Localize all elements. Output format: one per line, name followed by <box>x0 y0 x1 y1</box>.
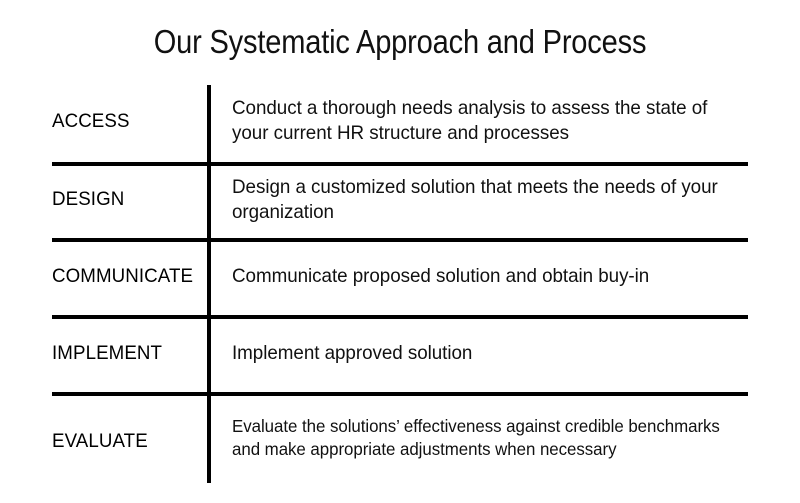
page-title: Our Systematic Approach and Process <box>48 20 752 64</box>
table-row: IMPLEMENT Implement approved solution <box>52 315 748 392</box>
table-row: DESIGN Design a customized solution that… <box>52 162 748 238</box>
stage-description-access: Conduct a thorough needs analysis to ass… <box>232 96 726 146</box>
stage-label-evaluate: EVALUATE <box>52 429 196 453</box>
stage-description-evaluate: Evaluate the solutions’ effectiveness ag… <box>232 415 734 461</box>
stage-description-communicate: Communicate proposed solution and obtain… <box>232 264 726 289</box>
stage-label-communicate: COMMUNICATE <box>52 264 196 288</box>
stage-label-implement: IMPLEMENT <box>52 341 196 365</box>
table-row: COMMUNICATE Communicate proposed solutio… <box>52 238 748 315</box>
stage-label-access: ACCESS <box>52 109 196 133</box>
slide-canvas: Our Systematic Approach and Process ACCE… <box>0 0 800 503</box>
stage-description-implement: Implement approved solution <box>232 341 726 366</box>
stage-label-design: DESIGN <box>52 187 196 211</box>
table-row: EVALUATE Evaluate the solutions’ effecti… <box>52 392 748 483</box>
process-table: ACCESS Conduct a thorough needs analysis… <box>52 85 748 483</box>
stage-description-design: Design a customized solution that meets … <box>232 175 726 225</box>
